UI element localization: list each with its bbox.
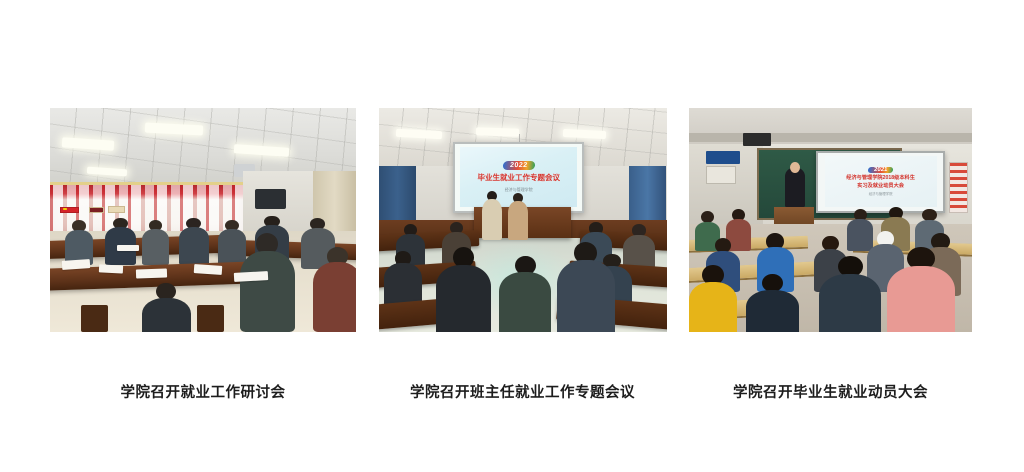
board-poster <box>108 206 125 212</box>
presenter-figure <box>508 193 528 240</box>
student-figure-foreground <box>689 265 737 332</box>
attendee-figure-foreground <box>499 256 551 332</box>
ceiling-lamp <box>476 127 519 136</box>
screen-title-line-1: 经济与管理学院2018级本科生 <box>846 174 915 181</box>
chair <box>81 305 109 332</box>
attendee-figure-foreground <box>240 233 295 332</box>
attendee-figure-foreground <box>142 283 191 332</box>
attendee-figure-foreground <box>557 242 615 332</box>
presenter-figure <box>482 191 502 240</box>
screen-subtitle: 经济与管理学院 <box>869 191 893 196</box>
gallery-item-1[interactable]: 学院召开就业工作研讨会 <box>50 108 356 402</box>
gallery-item-3[interactable]: 2021 经济与管理学院2018级本科生 实习及就业动员大会 经济与管理学院 <box>689 108 972 402</box>
attendee-figure-foreground <box>313 247 356 332</box>
gallery-item-2-caption: 学院召开班主任就业工作专题会议 <box>410 384 635 402</box>
wall-display <box>255 189 286 209</box>
wall-speaker-icon <box>743 133 771 146</box>
attendee-figure <box>179 218 210 265</box>
attendee-figure <box>105 218 136 265</box>
wall-notice <box>706 166 736 184</box>
gallery-item-2[interactable]: 2022 毕业生就业工作专题会议 经济与管理学院 <box>379 108 667 402</box>
screen-title: 毕业生就业工作专题会议 <box>477 172 560 183</box>
ceiling-beam <box>689 133 972 142</box>
document-sheet <box>117 245 138 252</box>
screen-year-badge: 2021 <box>868 167 894 173</box>
gallery-row: 学院召开就业工作研讨会 2022 毕业生就业工作专题会议 经济与管理学院 <box>50 108 972 402</box>
speaker-head <box>790 162 800 173</box>
gallery-item-3-caption: 学院召开毕业生就业动员大会 <box>733 384 928 402</box>
national-flag-icon <box>60 207 79 213</box>
photo-lecture-hall-meeting[interactable]: 2022 毕业生就业工作专题会议 经济与管理学院 <box>379 108 667 332</box>
photo-gallery-page: 学院召开就业工作研讨会 2022 毕业生就业工作专题会议 经济与管理学院 <box>0 0 1024 472</box>
document-sheet <box>99 264 124 273</box>
chair <box>197 305 225 332</box>
document-sheet <box>194 264 222 275</box>
board-poster <box>89 207 104 213</box>
attendee-figure-foreground <box>436 247 491 332</box>
gallery-item-1-caption: 学院召开就业工作研讨会 <box>121 384 286 402</box>
screen-year-badge: 2022 <box>502 161 535 170</box>
exit-sign <box>706 151 740 164</box>
document-sheet <box>233 271 267 282</box>
photo-seminar-meeting[interactable] <box>50 108 356 332</box>
student-figure-foreground <box>746 274 800 332</box>
projection-screen-content: 2021 经济与管理学院2018级本科生 实习及就业动员大会 经济与管理学院 <box>825 156 937 207</box>
projection-screen: 2021 经济与管理学院2018级本科生 实习及就业动员大会 经济与管理学院 <box>816 151 945 213</box>
wall-poster-red <box>949 162 968 213</box>
student-figure-foreground <box>819 256 881 332</box>
screen-title-line-2: 实习及就业动员大会 <box>857 182 904 189</box>
document-sheet <box>136 269 167 279</box>
photo-classroom-mobilization[interactable]: 2021 经济与管理学院2018级本科生 实习及就业动员大会 经济与管理学院 <box>689 108 972 332</box>
attendee-figure <box>142 220 170 265</box>
student-figure-foreground <box>887 247 955 332</box>
speaker-figure <box>785 168 805 206</box>
